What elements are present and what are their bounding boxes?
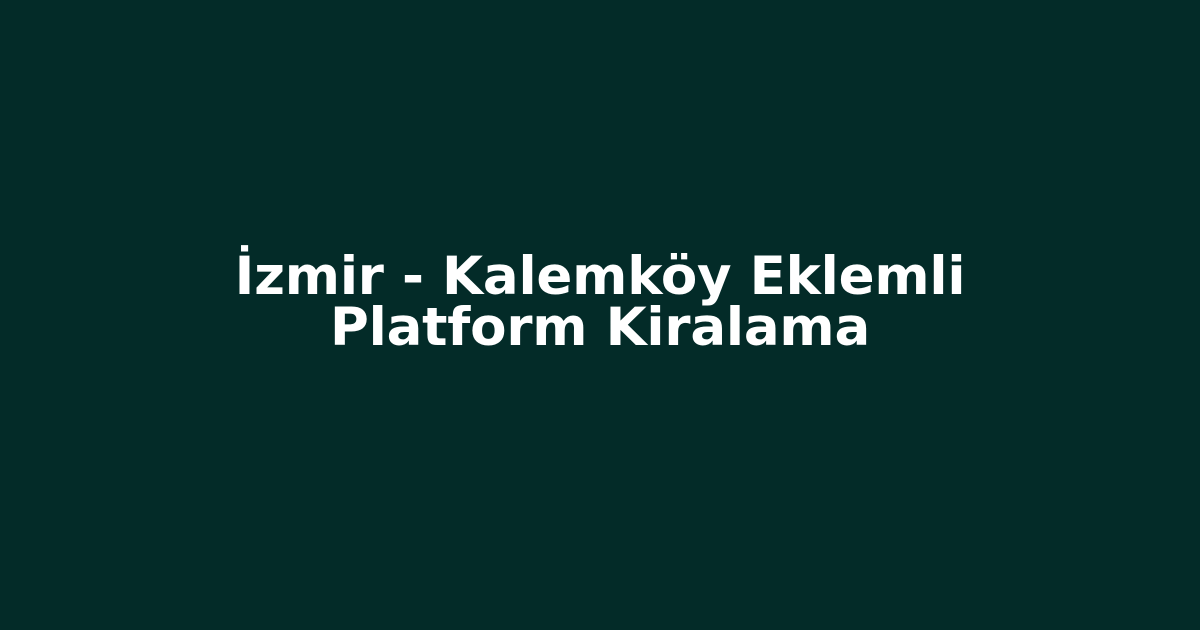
title-block: İzmir - Kalemköy Eklemli Platform Kirala… bbox=[130, 251, 1070, 353]
og-share-card: İzmir - Kalemköy Eklemli Platform Kirala… bbox=[0, 0, 1200, 630]
page-title: İzmir - Kalemköy Eklemli Platform Kirala… bbox=[130, 251, 1070, 353]
